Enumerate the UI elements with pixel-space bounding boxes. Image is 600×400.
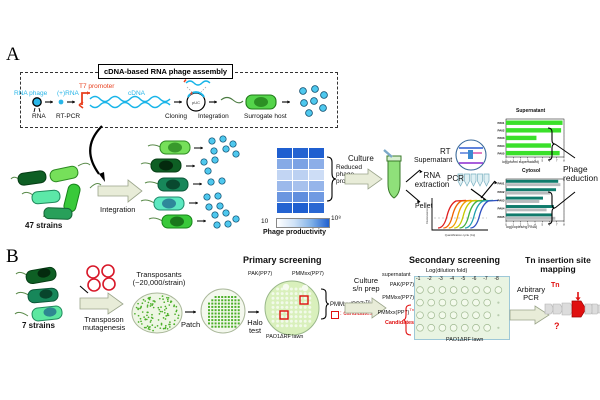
dilution-spot [484, 324, 491, 331]
transposants-line-2: (~20,000/strain) [124, 279, 194, 287]
bar-category-label: PA01 [497, 121, 504, 125]
dilution-spot [417, 324, 424, 331]
rna-step-label: RNA [32, 113, 46, 120]
cytosol-chart-xlabel: log(copies/ng RNA) [506, 226, 537, 230]
tn-mapping-title: Tn insertion site mapping [520, 256, 596, 275]
heatmap-cell [277, 148, 292, 158]
dilution-label: -4 [450, 277, 454, 283]
spot-dilution-grid [414, 283, 508, 337]
pao1-lawn-label-primary: PAO1ΔRF lawn [266, 335, 303, 341]
culture-arrow [344, 168, 384, 190]
dilution-label: -5 [461, 277, 465, 283]
secondary-row-label: PAK(PP7) [368, 283, 414, 289]
bar [506, 192, 550, 195]
integration-arrow-label: Integration [100, 206, 135, 214]
secondary-row-label: PMMxx(PP7) [368, 296, 414, 302]
phage-productivity-scale-title: Phage productivity [263, 229, 326, 237]
bar-category-label: PA04 [497, 207, 504, 211]
bar-category-label: PA02 [497, 190, 504, 194]
transposon-mutagenesis-label: Transposon mutagenesis [76, 316, 132, 333]
dilution-spot [417, 287, 424, 294]
dilution-spot [450, 287, 457, 294]
phage-reduction-line-2: reduction [563, 174, 598, 183]
patch-label: Patch [181, 321, 200, 329]
supernatant-chart-xlabel: log(pfu/ml supernatant) [502, 161, 539, 165]
dilution-spot [461, 312, 468, 319]
heatmap-cell [277, 203, 292, 213]
bar [506, 197, 543, 200]
cytosol-chart-title: Cytosol [522, 169, 540, 175]
tn-label: Tn [551, 282, 560, 290]
heatmap-scale-max: 10⁸ [331, 215, 341, 222]
secondary-candidates-bracket [404, 304, 412, 336]
bar [506, 200, 539, 203]
tn-title-line-2: mapping [520, 265, 596, 274]
heatmap-cell [277, 181, 292, 191]
strains-47-label: 47 strains [25, 222, 62, 231]
primary-screening-title: Primary screening [243, 256, 322, 266]
phage-reduction-label: Phage reduction [563, 165, 598, 184]
phage-reduction-bracket-bottom [545, 186, 581, 226]
rt-label: RT [440, 148, 451, 157]
bar-category-label: PA05 [497, 215, 504, 219]
heatmap-cell [293, 181, 308, 191]
cdna-label: cDNA [128, 90, 145, 97]
dilution-spot [461, 287, 468, 294]
heatmap-scale-bar [276, 218, 330, 228]
rna-extraction-label: RNA extraction [412, 172, 452, 190]
transposon-plasmids-icon [84, 264, 120, 294]
halo-line-2: test [245, 327, 265, 335]
supernatant-label: Supernatant [414, 157, 452, 165]
dilution-spot [461, 324, 468, 331]
heatmap-cell [293, 148, 308, 158]
dilution-spot [450, 299, 457, 306]
assembly-box-title: cDNA-based RNA phage assembly [98, 64, 233, 79]
dilution-spot [450, 324, 457, 331]
bar-xtick: 5 [542, 223, 544, 227]
heatmap-cell [293, 170, 308, 180]
heatmap-cell [277, 192, 292, 202]
qpcr-amplification-plot: FluorescenceQuantification cycle (Cq) [424, 196, 490, 238]
transposants-plate [130, 292, 184, 334]
dilution-label: -1 [416, 277, 420, 283]
dilution-label: -6 [472, 277, 476, 283]
halo-test-arrow [247, 306, 263, 318]
phage-productivity-heatmap [277, 148, 325, 214]
svg-text:Fluorescence: Fluorescence [425, 208, 429, 224]
integration-step-label: Integration [198, 113, 229, 120]
dilution-spot [428, 324, 435, 331]
heatmap-scale-min: 10 [261, 218, 268, 225]
dilution-spot [484, 312, 491, 319]
dilution-label: -7 [483, 277, 487, 283]
bar-xtick: 5 [542, 159, 544, 163]
bar [506, 136, 536, 140]
heatmap-cell [293, 203, 308, 213]
dilution-spot [439, 287, 446, 294]
rna-phage-label: RNA phage [14, 90, 47, 97]
patched-plate [200, 288, 246, 334]
dilution-spot [473, 287, 480, 294]
bar-category-label: PA01 [497, 182, 504, 186]
rt-reaction-icon [452, 138, 490, 172]
bar [506, 121, 563, 125]
phage-reduction-bracket-top [545, 126, 581, 166]
dilution-spot [450, 312, 457, 319]
secondary-screening-title: Secondary screening [409, 256, 500, 266]
dilution-spot [428, 312, 435, 319]
dilution-label: -8 [494, 277, 498, 283]
svg-text:Quantification cycle (Cq): Quantification cycle (Cq) [445, 233, 476, 237]
halo-test-plate [264, 280, 320, 336]
secondary-supernatant-label: supernatant [382, 273, 410, 279]
dilution-spot [428, 287, 435, 294]
pak-pp7-plate-label: PAK(PP7) [248, 272, 272, 278]
dilution-label: -2 [427, 277, 431, 283]
reduced-production-bracket [326, 156, 336, 202]
heatmap-cell [309, 148, 324, 158]
supernatant-chart-title: Supernatant [516, 109, 545, 115]
transposants-label: Transposants (~20,000/strain) [124, 271, 194, 288]
dilution-spot [484, 287, 491, 294]
heatmap-cell [277, 159, 292, 169]
dilution-spot [439, 299, 446, 306]
rna-extraction-line-2: extraction [412, 181, 452, 190]
heatmap-cell [293, 192, 308, 202]
candidates-bracket [320, 288, 330, 320]
transposon-mutagenesis-arrow [78, 292, 126, 316]
bar-category-label: PA04 [497, 144, 504, 148]
dilution-spot [473, 299, 480, 306]
pao1-lawn-label-secondary: PAO1ΔRF lawn [446, 338, 483, 344]
bar [506, 208, 547, 211]
integrated-strains-column [140, 136, 258, 226]
strains-7-cluster [14, 262, 88, 324]
dilution-spot [417, 299, 424, 306]
dilution-spot [461, 299, 468, 306]
bar-category-label: PA05 [497, 151, 504, 155]
heatmap-cell [293, 159, 308, 169]
bar-category-label: PA03 [497, 198, 504, 202]
bar [506, 180, 558, 183]
dilution-spot [428, 299, 435, 306]
svg-text:pUC: pUC [192, 100, 200, 105]
dilution-spot [473, 324, 480, 331]
rtpcr-step-label: RT-PCR [56, 113, 80, 120]
heatmap-cell [309, 159, 324, 169]
integration-arrow [96, 178, 146, 204]
strains-7-label: 7 strains [22, 322, 55, 331]
heatmap-cell [309, 181, 324, 191]
pmmxx-pp7-plate-label: PMMxx(PP7) [292, 272, 324, 278]
panel-a-letter: A [6, 44, 20, 66]
t7-promoter-label: T7 promoter [79, 83, 114, 90]
dilution-spot [439, 312, 446, 319]
patch-arrow [184, 306, 200, 318]
dilution-spot [495, 287, 502, 294]
dilution-label: -3 [438, 277, 442, 283]
cloning-step-label: Cloning [165, 113, 187, 120]
dilution-spot [484, 299, 491, 306]
culture-label: Culture [348, 155, 374, 164]
heatmap-cell [309, 203, 324, 213]
heatmap-cell [309, 170, 324, 180]
figure-root: A cDNA-based RNA phage assembly pUC RNA … [0, 0, 600, 400]
dilution-spot [439, 324, 446, 331]
dilution-spot [473, 312, 480, 319]
dilution-spot [417, 312, 424, 319]
surrogate-host-step-label: Surrogate host [244, 113, 287, 120]
heatmap-cell [277, 170, 292, 180]
plus-rna-label: (+)RNA [57, 90, 79, 97]
bar-category-label: PA02 [497, 129, 504, 133]
log-dilution-fold-label: Log(dilution fold) [426, 268, 467, 274]
unknown-gene-label: ? [554, 322, 560, 332]
transposon-line-2: mutagenesis [76, 324, 132, 332]
halo-test-label: Halo test [245, 319, 265, 336]
candidate-legend-swatch [331, 311, 339, 319]
pcr-label: PCR [447, 175, 464, 184]
heatmap-cell [309, 192, 324, 202]
bar-category-label: PA03 [497, 136, 504, 140]
